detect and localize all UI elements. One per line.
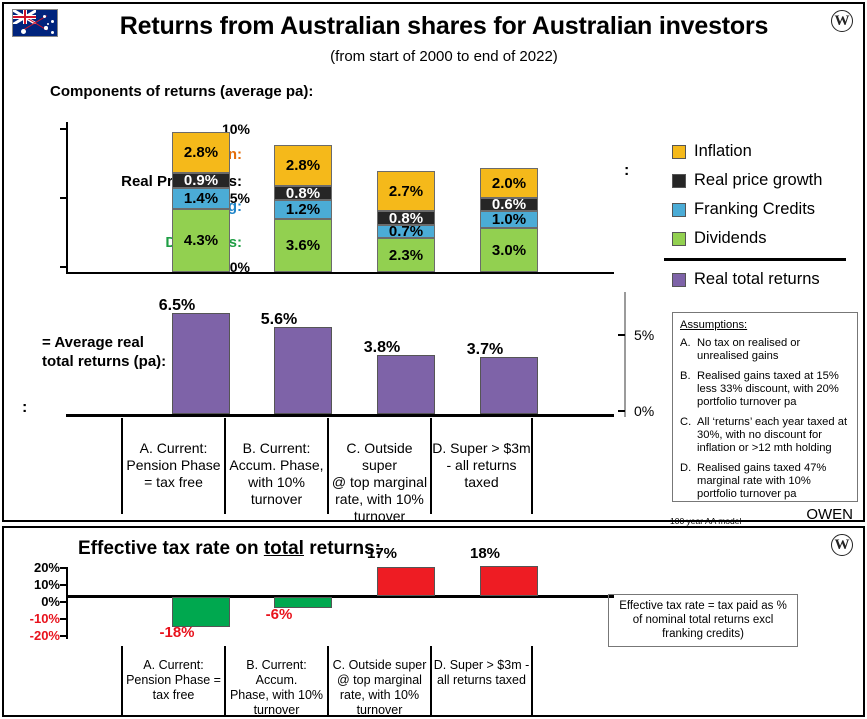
chartC-y-axis <box>66 567 68 639</box>
tax-bar-A <box>172 597 230 627</box>
components-section-label: Components of returns (average pa): <box>50 83 313 100</box>
segment-real-price-B: 0.8% <box>274 186 332 200</box>
bottom-category-label-A: A. Current:Pension Phase =tax free <box>121 646 224 716</box>
segment-value: 3.6% <box>286 238 320 253</box>
assumption-key: A. <box>680 337 697 363</box>
assumption-row-a: A. No tax on realised or unrealised gain… <box>680 337 850 363</box>
legend-label: Real price growth <box>694 171 822 190</box>
segment-value: 0.9% <box>184 173 218 188</box>
segment-value: 2.3% <box>389 248 423 263</box>
stacked-bar-C: 2.7% 0.8% 0.7% 2.3% <box>377 171 435 272</box>
assumption-key: D. <box>680 462 697 501</box>
legend-label: Dividends <box>694 229 766 248</box>
tax-value-D: 18% <box>440 545 530 562</box>
legend-label: Inflation <box>694 142 752 161</box>
segment-inflation-B: 2.8% <box>274 145 332 186</box>
chartA-y-axis <box>66 122 68 272</box>
segment-dividends-C: 2.3% <box>377 238 435 272</box>
legend-swatch-franking-icon <box>672 203 686 217</box>
segment-inflation-A: 2.8% <box>172 132 230 173</box>
segment-value: 2.8% <box>286 158 320 173</box>
top-panel: W Returns from Australian shares for Aus… <box>2 2 865 522</box>
tax-bar-D <box>480 566 538 596</box>
legend-item-real-price-growth: Real price growth <box>672 171 862 190</box>
assumptions-heading: Assumptions: <box>680 319 850 332</box>
segment-real-price-A: 0.9% <box>172 173 230 188</box>
segment-value: 1.2% <box>286 202 320 217</box>
bottom-category-label-B: B. Current: Accum.Phase, with 10%turnove… <box>224 646 327 716</box>
page-title: Returns from Australian shares for Austr… <box>74 12 814 41</box>
legend-swatch-real-total-icon <box>672 273 686 287</box>
assumption-text: No tax on realised or unrealised gains <box>697 337 850 363</box>
segment-value: 2.8% <box>184 145 218 160</box>
segment-inflation-D: 2.0% <box>480 168 538 198</box>
legend-item-dividends: Dividends <box>672 229 862 248</box>
stacked-components-chart: 2.8% 0.9% 1.4% 4.3% 2.8% 0.8% 1.2% 3.6% … <box>66 122 614 274</box>
segment-franking-C: 0.7% <box>377 225 435 238</box>
stacked-bar-D: 2.0% 0.6% 1.0% 3.0% <box>480 168 538 272</box>
tax-value-A: -18% <box>132 624 222 641</box>
category-label-B: B. Current:Accum. Phase,with 10%turnover <box>224 418 327 514</box>
legend-swatch-real-price-icon <box>672 174 686 188</box>
segment-value: 4.3% <box>184 233 218 248</box>
chart-legend: Inflation Real price growth Franking Cre… <box>672 142 862 299</box>
purple-bar-value-C: 3.8% <box>337 339 427 357</box>
assumption-text: Realised gains taxed at 15% less 33% dis… <box>697 370 850 409</box>
segment-inflation-C: 2.7% <box>377 171 435 211</box>
bottom-panel: W Effective tax rate on total returns: 2… <box>2 526 865 717</box>
segment-value: 0.6% <box>492 197 526 212</box>
segment-dividends-D: 3.0% <box>480 228 538 272</box>
assumptions-box: Assumptions: A. No tax on realised or un… <box>672 312 858 502</box>
bottom-category-axis: A. Current:Pension Phase =tax free B. Cu… <box>66 646 614 716</box>
category-label-D: D. Super > $3m- all returnstaxed <box>430 418 533 514</box>
segment-value: 1.0% <box>492 212 526 227</box>
purple-bar-value-A: 6.5% <box>132 297 222 315</box>
effective-tax-rate-note: Effective tax rate = tax paid as % of no… <box>608 594 798 647</box>
segment-value: 2.0% <box>492 176 526 191</box>
legend-item-inflation: Inflation <box>672 142 862 161</box>
category-label-A: A. Current:Pension Phase= tax free <box>121 418 224 514</box>
segment-real-price-D: 0.6% <box>480 198 538 211</box>
purple-bar-value-B: 5.6% <box>234 311 324 329</box>
assumption-key: B. <box>680 370 697 409</box>
page-subtitle: (from start of 2000 to end of 2022) <box>74 48 814 65</box>
category-label-C: C. Outside super@ top marginalrate, with… <box>327 418 430 514</box>
tax-value-B: -6% <box>234 606 324 623</box>
chartB-ytick-label-5: 5% <box>634 327 654 343</box>
chartB-ytick-label-0: 0% <box>634 403 654 419</box>
colon-marker-top: : <box>624 162 629 180</box>
segment-value: 0.8% <box>286 186 320 201</box>
chartC-ytick-label-neg20: -20% <box>8 628 60 643</box>
title-underline: total <box>264 538 304 559</box>
bottom-category-label-C: C. Outside super@ top marginalrate, with… <box>327 646 430 716</box>
bottom-category-label-D: D. Super > $3m -all returns taxed <box>430 646 533 716</box>
australian-flag-icon <box>12 9 58 37</box>
purple-bar-D <box>480 357 538 414</box>
legend-swatch-inflation-icon <box>672 145 686 159</box>
chartC-ytick-label-neg10: -10% <box>8 611 60 626</box>
legend-swatch-dividends-icon <box>672 232 686 246</box>
segment-franking-D: 1.0% <box>480 211 538 228</box>
effective-tax-rate-title: Effective tax rate on total returns: <box>78 538 381 560</box>
chartB-x-axis <box>66 414 614 417</box>
chartC-ytick-label-10: 10% <box>8 577 60 592</box>
segment-dividends-B: 3.6% <box>274 219 332 272</box>
chartC-ytick-label-20: 20% <box>8 560 60 575</box>
segment-franking-A: 1.4% <box>172 188 230 209</box>
owen-attribution-top: OWEN <box>806 506 853 523</box>
assumption-text: All ‘returns’ each year taxed at 30%, wi… <box>697 416 850 455</box>
tax-bar-C <box>377 567 435 596</box>
assumption-row-b: B. Realised gains taxed at 15% less 33% … <box>680 370 850 409</box>
assumption-key: C. <box>680 416 697 455</box>
assumption-row-c: C. All ‘returns’ each year taxed at 30%,… <box>680 416 850 455</box>
chartC-ytick-label-0: 0% <box>8 594 60 609</box>
owen-wave-logo-icon: W <box>831 10 853 32</box>
segment-value: 0.7% <box>389 224 423 239</box>
legend-divider <box>664 258 846 261</box>
assumption-row-d: D. Realised gains taxed 47% marginal rat… <box>680 462 850 501</box>
segment-value: 3.0% <box>492 243 526 258</box>
purple-bar-C <box>377 355 435 414</box>
legend-item-real-total-returns: Real total returns <box>672 270 862 289</box>
title-pre: Effective tax rate on <box>78 538 264 559</box>
stacked-bar-B: 2.8% 0.8% 1.2% 3.6% <box>274 145 332 272</box>
top-category-axis: A. Current:Pension Phase= tax free B. Cu… <box>66 418 614 514</box>
model-note: 100 year AA model <box>670 516 741 526</box>
owen-wave-logo-icon-bottom: W <box>831 534 853 556</box>
legend-label: Real total returns <box>694 270 820 289</box>
colon-marker-left: : <box>22 399 27 417</box>
segment-franking-B: 1.2% <box>274 200 332 219</box>
purple-bar-A <box>172 313 230 414</box>
purple-bar-value-D: 3.7% <box>440 341 530 359</box>
legend-label: Franking Credits <box>694 200 815 219</box>
assumption-text: Realised gains taxed 47% marginal rate w… <box>697 462 850 501</box>
segment-value: 1.4% <box>184 191 218 206</box>
tax-value-C: 17% <box>337 545 427 562</box>
chartB-right-axis <box>624 292 626 417</box>
purple-bar-B <box>274 327 332 414</box>
stacked-bar-A: 2.8% 0.9% 1.4% 4.3% <box>172 132 230 272</box>
segment-value: 2.7% <box>389 184 423 199</box>
legend-item-franking-credits: Franking Credits <box>672 200 862 219</box>
segment-dividends-A: 4.3% <box>172 209 230 272</box>
